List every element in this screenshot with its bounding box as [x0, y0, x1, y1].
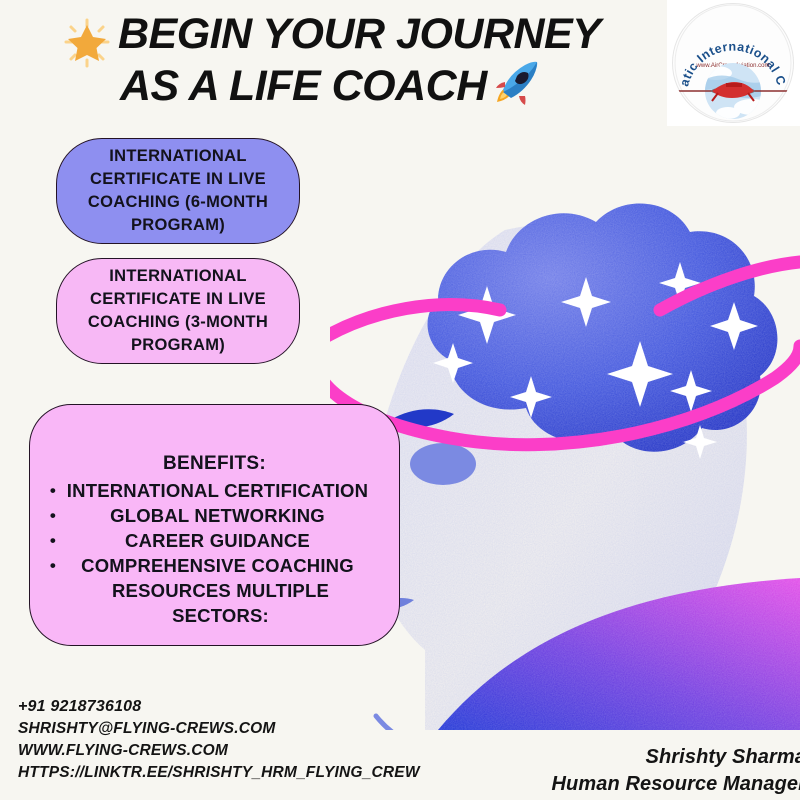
benefits-title: BENEFITS: — [40, 453, 389, 475]
logo-disc: Asiatic International Corp www.AirCrewsA… — [672, 3, 794, 123]
cloud-sparkles — [433, 262, 758, 459]
headline-line-2: AS A LIFE COACH — [120, 62, 487, 110]
contact-phone[interactable]: +91 9218736108 — [18, 696, 420, 718]
pill-certificate-6-month[interactable]: INTERNATIONAL CERTIFICATE IN LIVE COACHI… — [56, 138, 300, 244]
benefit-label: GLOBAL NETWORKING — [66, 503, 389, 528]
star-icon — [62, 18, 112, 68]
bullet-icon: • — [40, 553, 66, 578]
rocket-icon — [491, 60, 541, 108]
poster-canvas: Asiatic International Corp www.AirCrewsA… — [0, 0, 800, 800]
contact-website[interactable]: WWW.FLYING-CREWS.COM — [18, 740, 420, 762]
shoulder-gradient — [438, 578, 800, 730]
cloud-brain — [428, 203, 778, 459]
benefit-item: • GLOBAL NETWORKING — [40, 503, 389, 528]
bullet-icon: • — [40, 528, 66, 553]
benefit-item: • COMPREHENSIVE COACHING RESOURCES MULTI… — [40, 553, 389, 628]
headline-line-1: BEGIN YOUR JOURNEY — [60, 8, 660, 60]
head-shape — [330, 170, 800, 730]
benefit-item: • INTERNATIONAL CERTIFICATION — [40, 478, 389, 503]
head-illustration — [330, 170, 800, 730]
benefit-label-continued: RESOURCES MULTIPLE SECTORS: — [66, 578, 369, 628]
benefit-item: • CAREER GUIDANCE — [40, 528, 389, 553]
bullet-icon: • — [40, 478, 66, 503]
benefit-label: INTERNATIONAL CERTIFICATION — [66, 478, 389, 503]
benefits-panel: BENEFITS: • INTERNATIONAL CERTIFICATION … — [29, 404, 400, 646]
pill-certificate-6-month-label: INTERNATIONAL CERTIFICATE IN LIVE COACHI… — [57, 145, 299, 237]
contact-block: +91 9218736108 SHRISHTY@FLYING-CREWS.COM… — [18, 696, 420, 784]
company-logo: Asiatic International Corp www.AirCrewsA… — [667, 0, 800, 126]
signature-block: Shrishty Sharma Human Resource Manager — [552, 744, 800, 798]
signature-name: Shrishty Sharma — [552, 744, 800, 771]
benefit-label: CAREER GUIDANCE — [66, 528, 389, 553]
pill-certificate-3-month-label: INTERNATIONAL CERTIFICATE IN LIVE COACHI… — [57, 265, 299, 357]
contact-linktree[interactable]: HTTPS://LINKTR.EE/SHRISHTY_HRM_FLYING_CR… — [18, 762, 420, 784]
contact-email[interactable]: SHRISHTY@FLYING-CREWS.COM — [18, 718, 420, 740]
bullet-icon: • — [40, 503, 66, 528]
orbit-ring — [330, 262, 800, 445]
page-title: BEGIN YOUR JOURNEY AS A LIFE COACH — [60, 8, 660, 112]
benefit-label: COMPREHENSIVE COACHING — [81, 555, 354, 576]
signature-title: Human Resource Manager — [552, 771, 800, 798]
pill-certificate-3-month[interactable]: INTERNATIONAL CERTIFICATE IN LIVE COACHI… — [56, 258, 300, 364]
